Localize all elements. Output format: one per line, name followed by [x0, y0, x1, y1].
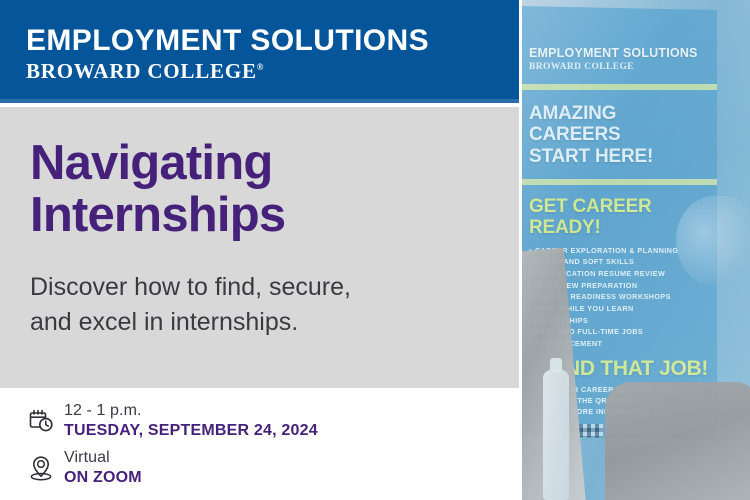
- location-pin-icon: [26, 451, 56, 485]
- poster-divider-bottom: [521, 179, 717, 185]
- college-name: BROWARD COLLEGE: [26, 59, 257, 83]
- left-content-column: EMPLOYMENT SOLUTIONS BROWARD COLLEGE® Na…: [0, 0, 519, 500]
- poster-divider-top: [521, 84, 717, 90]
- poster-heading-line-2: START HERE!: [529, 146, 653, 167]
- photo-left-gap: [519, 0, 522, 500]
- subhead-line-1: Discover how to find, secure,: [30, 273, 351, 301]
- organization-title: EMPLOYMENT SOLUTIONS: [26, 26, 519, 56]
- event-time: 12 - 1 p.m.: [64, 402, 318, 420]
- page-subtitle: Discover how to find, secure, and excel …: [30, 270, 489, 341]
- registered-trademark-icon: ®: [257, 62, 265, 72]
- organization-subtitle: BROWARD COLLEGE®: [26, 61, 519, 82]
- poster-subheading-line-2: READY!: [529, 217, 601, 238]
- poster-brand-title: EMPLOYMENT SOLUTIONS: [529, 46, 709, 60]
- career-fair-photo: EMPLOYMENT SOLUTIONS BROWARD COLLEGE AMA…: [519, 0, 750, 500]
- poster-heading: AMAZING CAREERS START HERE!: [529, 103, 709, 167]
- event-time-text: 12 - 1 p.m. TUESDAY, SEPTEMBER 24, 2024: [64, 402, 318, 440]
- event-location: Virtual: [64, 449, 142, 467]
- poster-heading-line-1: AMAZING CAREERS: [529, 103, 621, 145]
- event-details: 12 - 1 p.m. TUESDAY, SEPTEMBER 24, 2024 …: [0, 388, 519, 500]
- chair-back: [605, 382, 750, 500]
- brand-header: EMPLOYMENT SOLUTIONS BROWARD COLLEGE®: [0, 0, 519, 103]
- event-date: TUESDAY, SEPTEMBER 24, 2024: [64, 422, 318, 440]
- event-location-row: Virtual ON ZOOM: [26, 449, 519, 487]
- page-title: Navigating Internships: [30, 137, 489, 242]
- headline-line-1: Navigating: [30, 136, 272, 190]
- calendar-clock-icon: [26, 404, 56, 438]
- subhead-line-2: and excel in internships.: [30, 308, 298, 336]
- event-platform: ON ZOOM: [64, 469, 142, 487]
- poster-brand-subtitle: BROWARD COLLEGE: [529, 62, 709, 72]
- poster-subheading-line-1: GET CAREER: [529, 196, 652, 217]
- event-flyer: EMPLOYMENT SOLUTIONS BROWARD COLLEGE® Na…: [0, 0, 750, 500]
- event-time-row: 12 - 1 p.m. TUESDAY, SEPTEMBER 24, 2024: [26, 402, 519, 440]
- event-location-text: Virtual ON ZOOM: [64, 449, 142, 487]
- headline-panel: Navigating Internships Discover how to f…: [0, 107, 519, 388]
- headline-line-2: Internships: [30, 188, 285, 242]
- water-bottle: [543, 370, 569, 500]
